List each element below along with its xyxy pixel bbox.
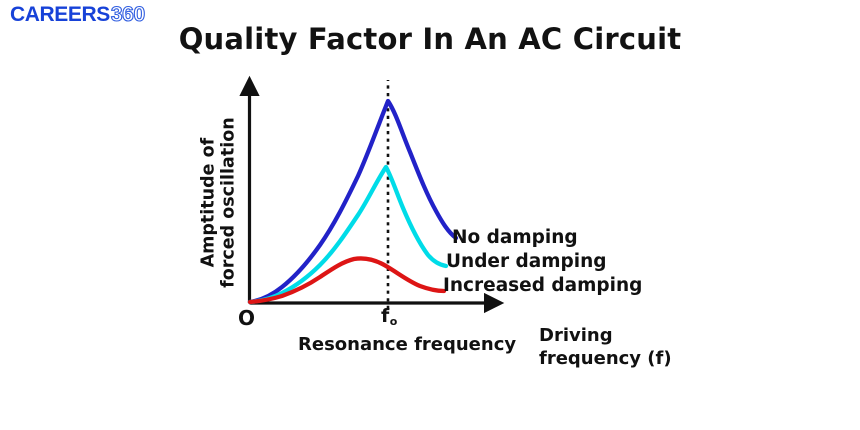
legend-item-increased-damping: Increased damping	[443, 275, 642, 296]
y-axis-label-line1: Amptitude of	[198, 138, 218, 268]
legend-item-no-damping: No damping	[452, 227, 578, 248]
resonance-frequency-caption: Resonance frequency	[298, 334, 516, 355]
curve-increased-damping	[250, 258, 444, 302]
curve-no-damping	[250, 101, 456, 302]
curve-under-damping	[250, 167, 446, 302]
y-axis-label-line2: forced oscillation	[218, 118, 238, 289]
resonance-tick-label: fo	[381, 305, 397, 327]
origin-label: O	[238, 306, 255, 330]
plot-canvas	[0, 0, 860, 430]
legend-item-under-damping: Under damping	[446, 251, 607, 272]
y-axis-label: Amptitude of forced oscillation	[196, 108, 242, 298]
x-axis-label: Driving frequency (f)	[539, 325, 704, 370]
resonance-tick-subscript: o	[390, 315, 398, 328]
resonance-curve-figure: Amptitude of forced oscillation O fo Res…	[0, 0, 860, 430]
resonance-tick-symbol: f	[381, 305, 389, 327]
